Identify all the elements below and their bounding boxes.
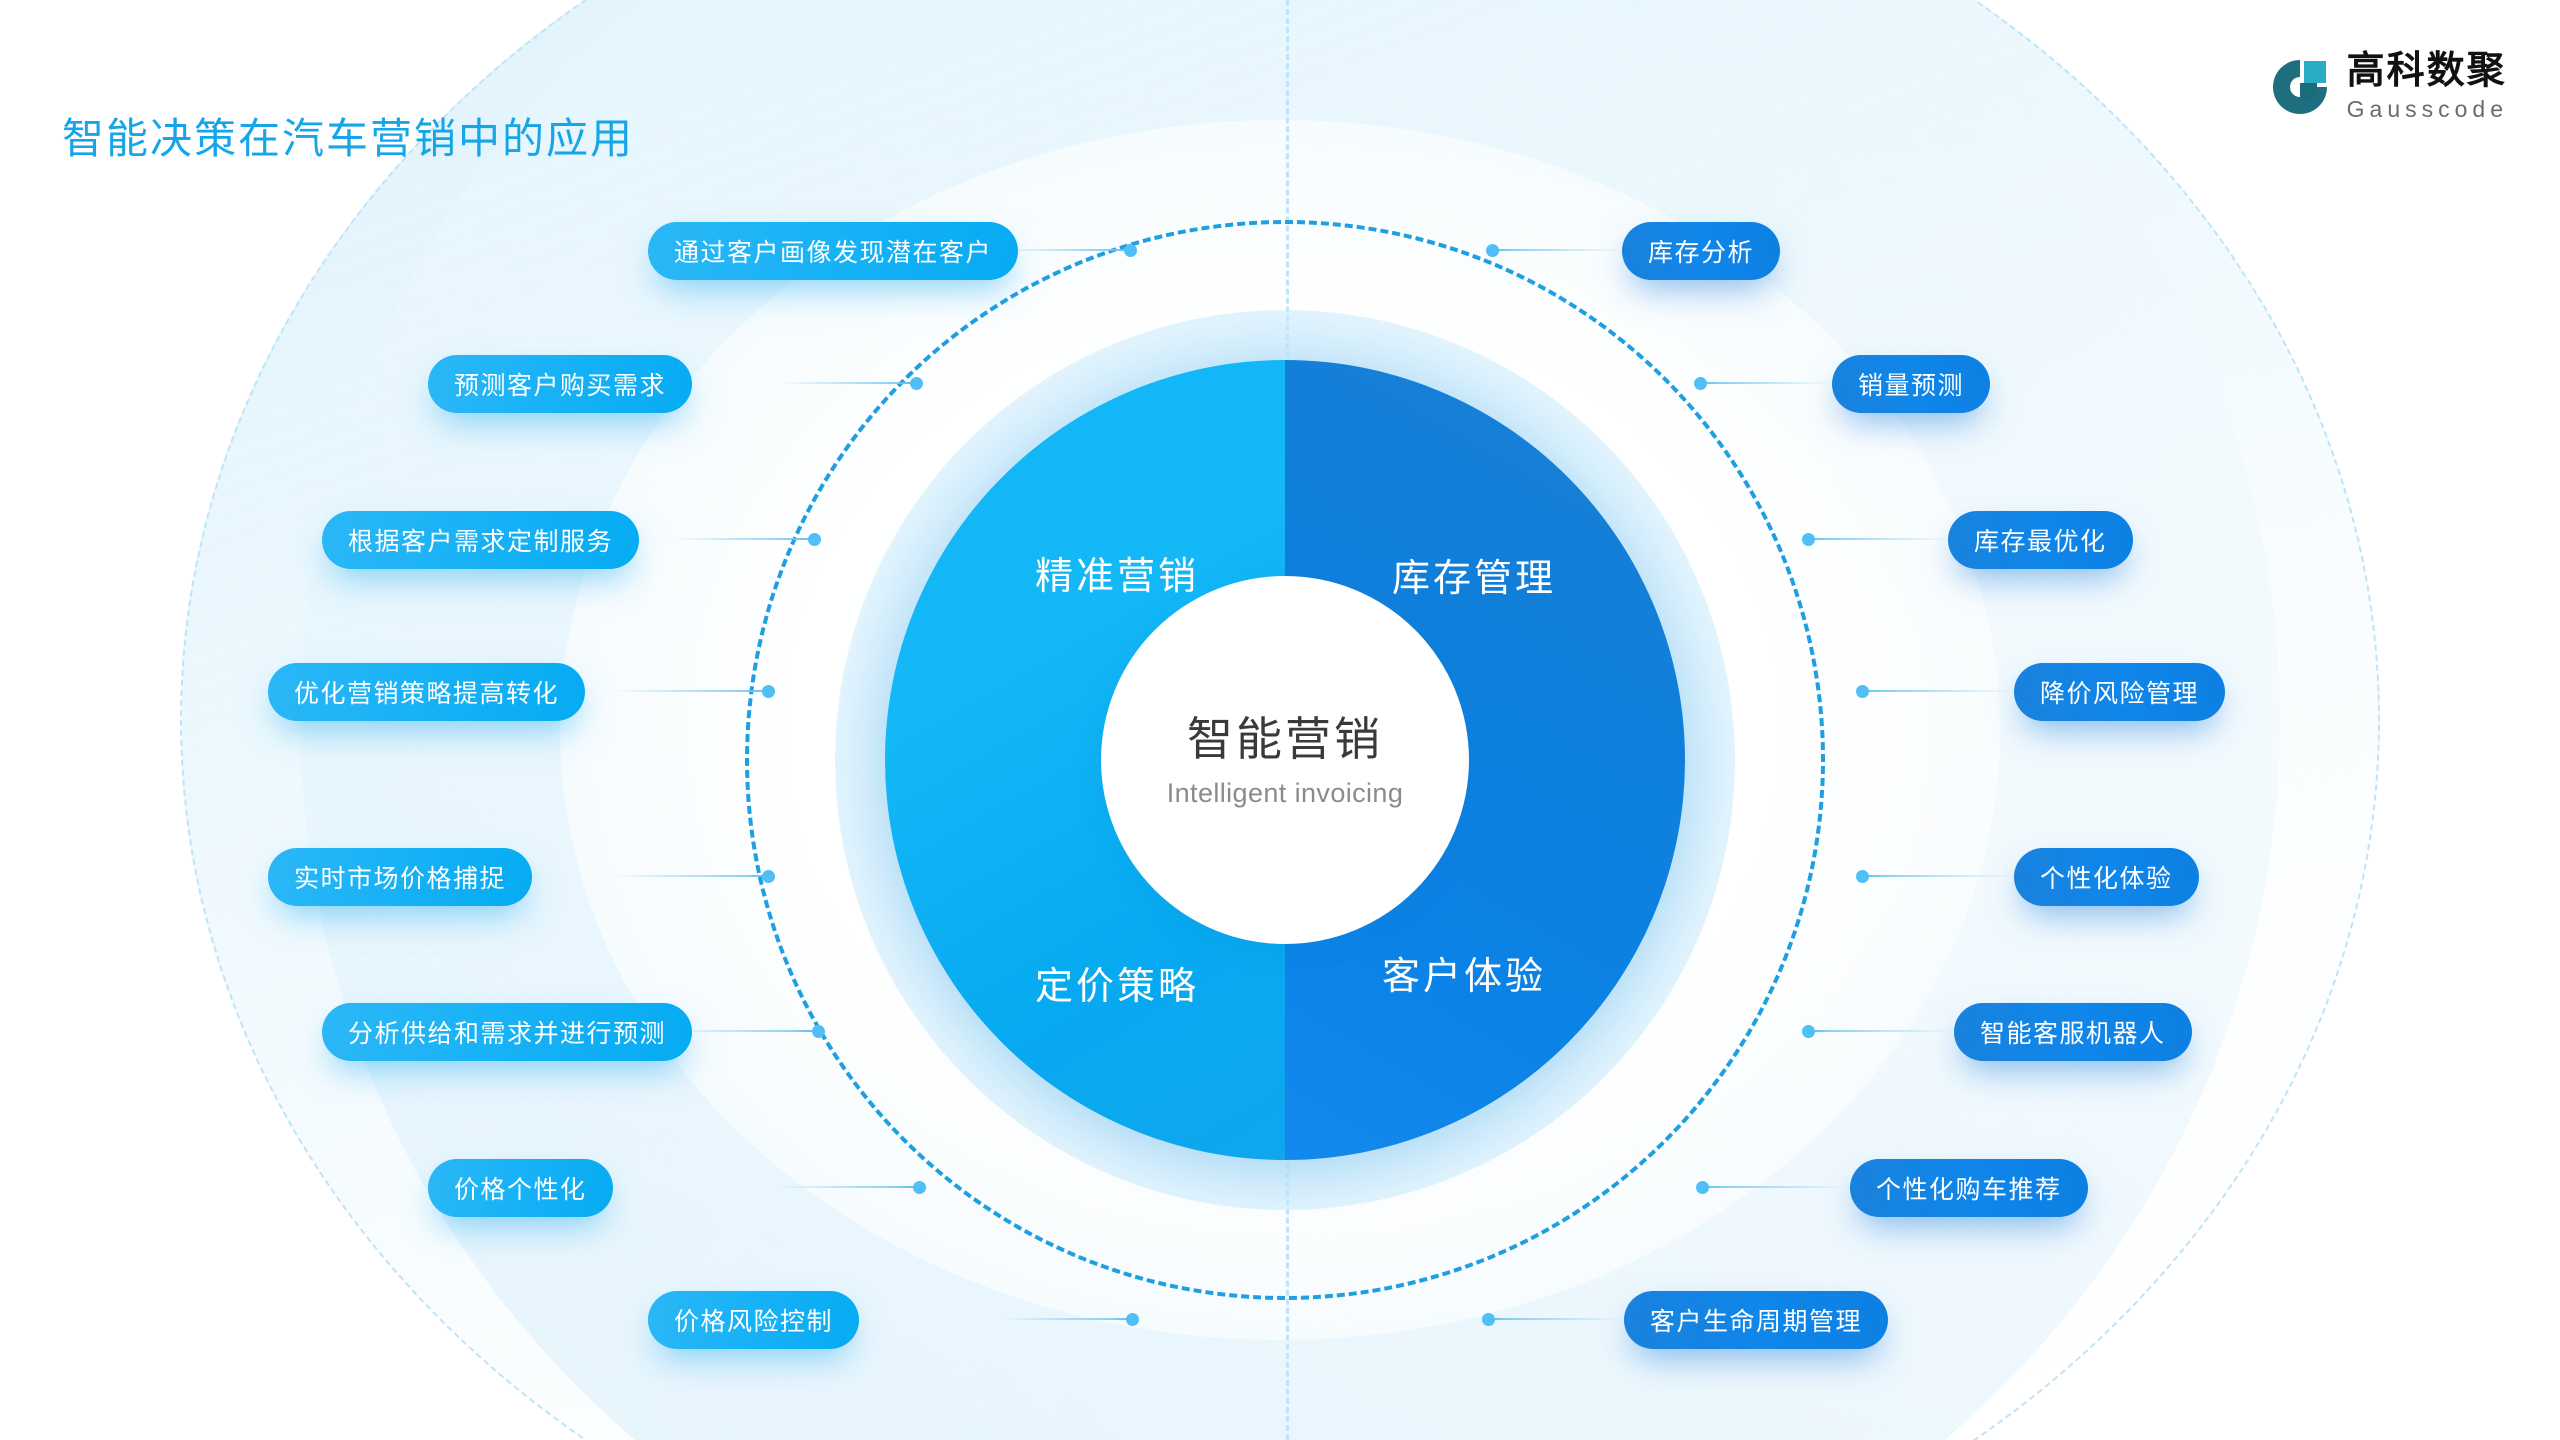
node-dot-left-5	[762, 870, 775, 883]
connector-left-8	[1000, 1318, 1130, 1320]
right-item-pill-4[interactable]: 降价风险管理	[2014, 663, 2225, 721]
donut-center-hub: 智能营销 Intelligent invoicing	[1101, 576, 1469, 944]
left-item-pill-5[interactable]: 实时市场价格捕捉	[268, 848, 532, 906]
center-title-cn: 智能营销	[1187, 711, 1383, 769]
connector-left-3	[670, 538, 812, 540]
right-item-pill-2[interactable]: 销量预测	[1832, 355, 1990, 413]
node-dot-right-5	[1856, 870, 1869, 883]
connector-right-6	[1808, 1030, 1954, 1032]
node-dot-left-7	[913, 1181, 926, 1194]
right-item-pill-3[interactable]: 库存最优化	[1948, 511, 2133, 569]
right-item-pill-8[interactable]: 客户生命周期管理	[1624, 1291, 1888, 1349]
connector-left-4	[612, 690, 768, 692]
node-dot-right-1	[1486, 244, 1499, 257]
left-item-pill-8[interactable]: 价格风险控制	[648, 1291, 859, 1349]
connector-left-1	[1000, 249, 1128, 251]
node-dot-left-1	[1124, 244, 1137, 257]
brand-logo: 高科数聚 Gausscode	[2269, 52, 2508, 121]
connector-right-1	[1492, 249, 1622, 251]
right-item-pill-1[interactable]: 库存分析	[1622, 222, 1780, 280]
logo-name-en: Gausscode	[2347, 98, 2508, 121]
node-dot-left-6	[812, 1025, 825, 1038]
page-title: 智能决策在汽车营销中的应用	[62, 105, 634, 166]
logo-name-cn: 高科数聚	[2347, 52, 2508, 90]
quadrant-label-top-left: 精准营销	[1035, 545, 1199, 600]
node-dot-right-4	[1856, 685, 1869, 698]
connector-right-8	[1488, 1318, 1624, 1320]
left-item-pill-7[interactable]: 价格个性化	[428, 1159, 613, 1217]
node-dot-left-4	[762, 685, 775, 698]
node-dot-right-3	[1802, 533, 1815, 546]
node-dot-right-8	[1482, 1313, 1495, 1326]
left-item-pill-1[interactable]: 通过客户画像发现潜在客户	[648, 222, 1018, 280]
right-item-pill-6[interactable]: 智能客服机器人	[1954, 1003, 2192, 1061]
left-item-pill-4[interactable]: 优化营销策略提高转化	[268, 663, 585, 721]
connector-right-3	[1808, 538, 1948, 540]
connector-right-2	[1700, 382, 1832, 384]
connector-left-5	[612, 875, 768, 877]
connector-right-5	[1862, 875, 2014, 877]
slide-canvas: 智能决策在汽车营销中的应用 高科数聚 Gausscode	[0, 0, 2560, 1440]
quadrant-donut-chart: 智能营销 Intelligent invoicing	[885, 360, 1685, 1160]
logo-text-block: 高科数聚 Gausscode	[2347, 52, 2508, 121]
left-item-pill-6[interactable]: 分析供给和需求并进行预测	[322, 1003, 692, 1061]
node-dot-left-3	[808, 533, 821, 546]
node-dot-left-2	[910, 377, 923, 390]
connector-right-7	[1702, 1186, 1850, 1188]
node-dot-right-2	[1694, 377, 1707, 390]
right-item-pill-7[interactable]: 个性化购车推荐	[1850, 1159, 2088, 1217]
quadrant-label-bottom-left: 定价策略	[1035, 955, 1199, 1010]
node-dot-right-6	[1802, 1025, 1815, 1038]
left-item-pill-2[interactable]: 预测客户购买需求	[428, 355, 692, 413]
left-item-pill-3[interactable]: 根据客户需求定制服务	[322, 511, 639, 569]
connector-left-7	[775, 1186, 917, 1188]
quadrant-label-bottom-right: 客户体验	[1382, 945, 1546, 1000]
node-dot-right-7	[1696, 1181, 1709, 1194]
gausscode-mark-icon	[2269, 56, 2331, 118]
center-title-en: Intelligent invoicing	[1167, 778, 1404, 809]
right-item-pill-5[interactable]: 个性化体验	[2014, 848, 2199, 906]
connector-right-4	[1862, 690, 2014, 692]
quadrant-label-top-right: 库存管理	[1392, 547, 1556, 602]
node-dot-left-8	[1126, 1313, 1139, 1326]
connector-left-2	[780, 382, 914, 384]
